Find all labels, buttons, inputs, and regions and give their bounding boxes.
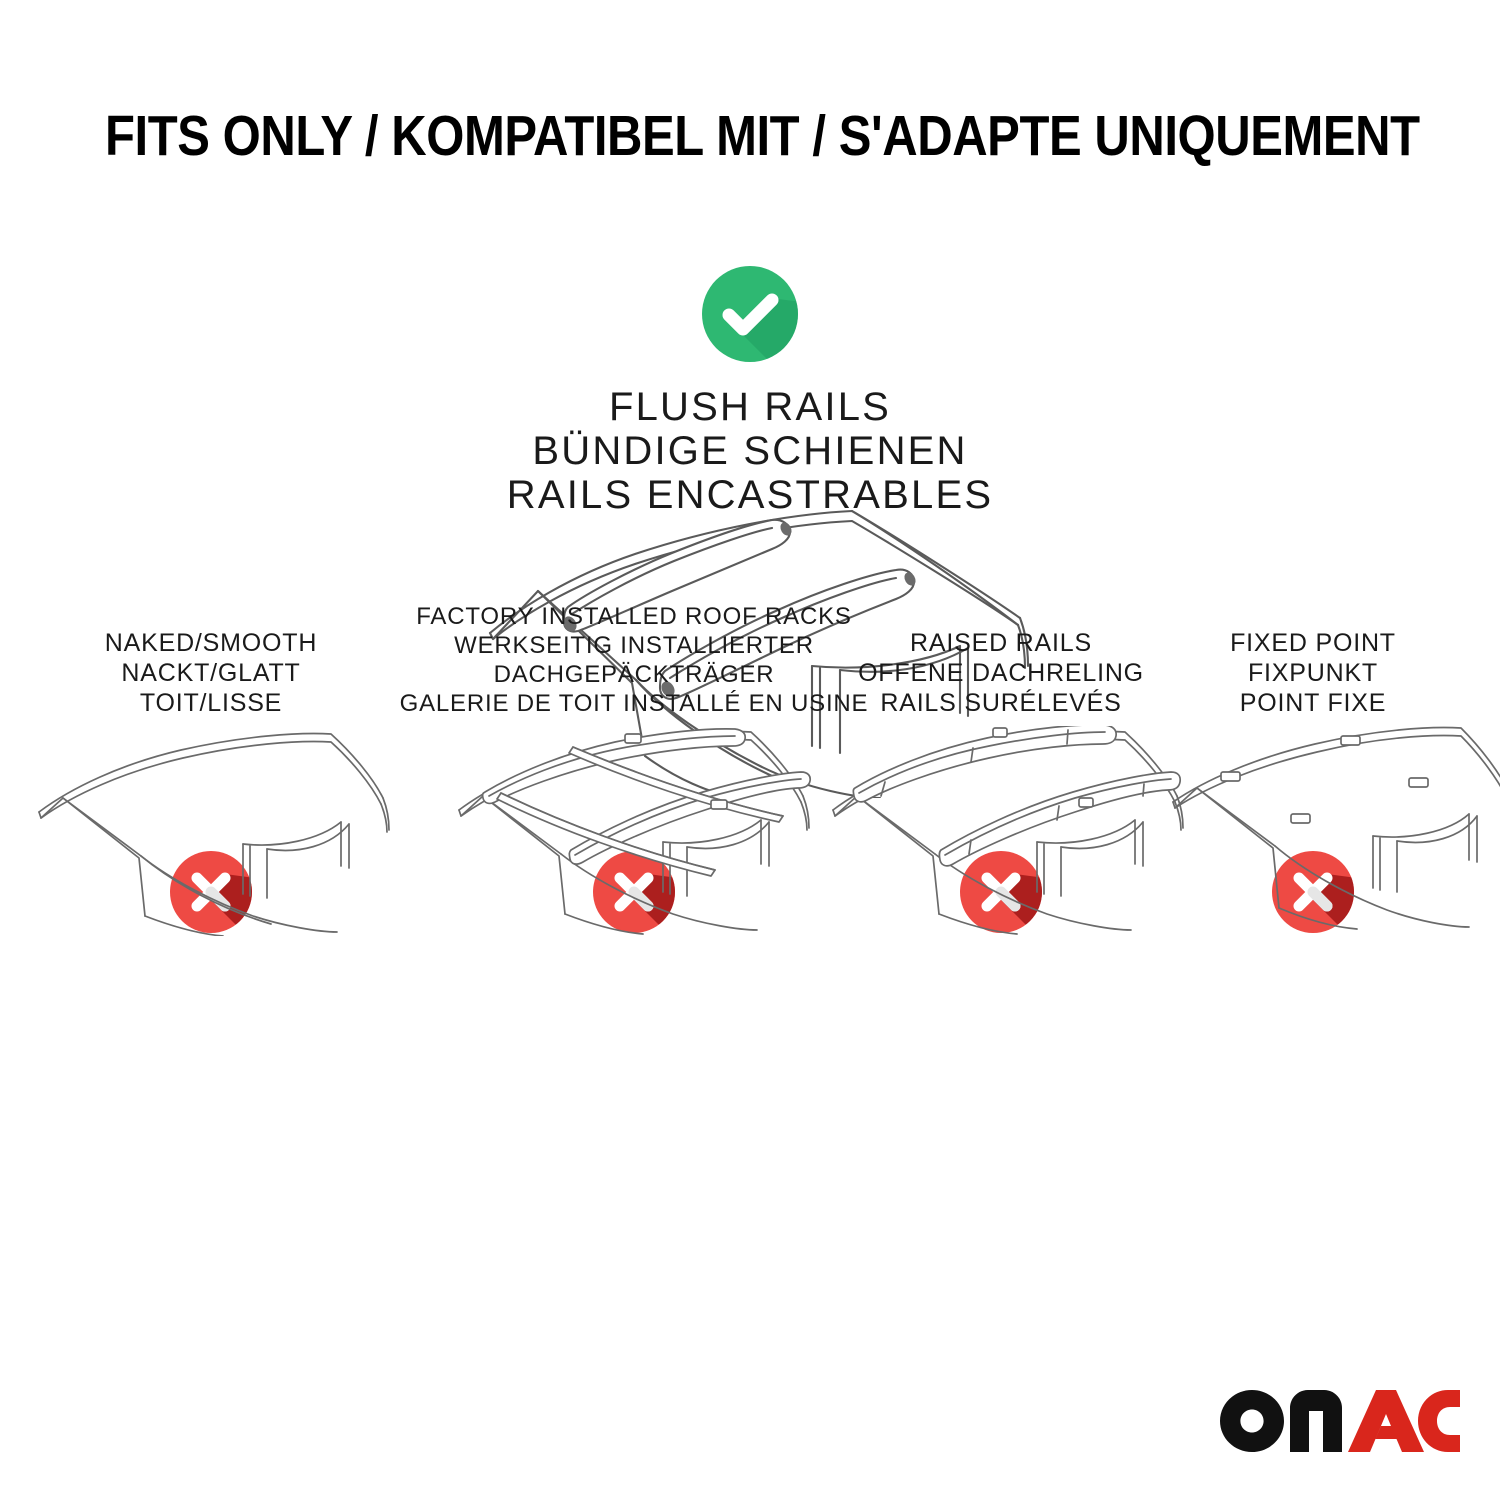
- label-line-2: WERKSEITIG INSTALLIERTER: [394, 631, 874, 660]
- label-line-3: DACHGEPÄCKTRÄGER: [394, 660, 874, 689]
- label-line-3: TOIT/LISSE: [21, 688, 401, 718]
- label-line-1: NAKED/SMOOTH: [21, 628, 401, 658]
- incompatible-label-naked-smooth: NAKED/SMOOTH NACKT/GLATT TOIT/LISSE: [21, 628, 401, 718]
- car-roof-raised-rails-illustration: [821, 726, 1181, 936]
- page-title: FITS ONLY / KOMPATIBEL MIT / S'ADAPTE UN…: [105, 104, 1395, 168]
- label-line-4: GALERIE DE TOIT INSTALLÉ EN USINE: [394, 689, 874, 718]
- label-line-1: FIXED POINT: [1163, 628, 1463, 658]
- incompatible-item-naked-smooth: NAKED/SMOOTH NACKT/GLATT TOIT/LISSE: [21, 848, 401, 936]
- compatible-heading-line-1: FLUSH RAILS: [0, 385, 1500, 429]
- incompatible-label-raised-rails: RAISED RAILS OFFENE DACHRELING RAILS SUR…: [821, 628, 1181, 718]
- incompatible-label-fixed-point: FIXED POINT FIXPUNKT POINT FIXE: [1163, 628, 1463, 718]
- infographic-page: FITS ONLY / KOMPATIBEL MIT / S'ADAPTE UN…: [0, 0, 1500, 1500]
- incompatible-label-factory-roof-racks: FACTORY INSTALLED ROOF RACKS WERKSEITIG …: [394, 602, 874, 718]
- green-check-icon: [698, 262, 802, 366]
- label-line-1: RAISED RAILS: [821, 628, 1181, 658]
- label-line-3: RAILS SURÉLEVÉS: [821, 688, 1181, 718]
- incompatible-item-raised-rails: RAISED RAILS OFFENE DACHRELING RAILS SUR…: [821, 848, 1181, 936]
- incompatible-item-fixed-point: FIXED POINT FIXPUNKT POINT FIXE: [1163, 848, 1463, 936]
- label-line-3: POINT FIXE: [1163, 688, 1463, 718]
- label-line-2: NACKT/GLATT: [21, 658, 401, 688]
- car-roof-factory-roof-racks-illustration: [394, 726, 874, 936]
- incompatible-section: NAKED/SMOOTH NACKT/GLATT TOIT/LISSE: [0, 848, 1500, 1268]
- car-roof-naked-smooth-illustration: [21, 726, 401, 936]
- compatible-heading-line-2: BÜNDIGE SCHIENEN: [0, 429, 1500, 473]
- label-line-2: OFFENE DACHRELING: [821, 658, 1181, 688]
- label-line-2: FIXPUNKT: [1163, 658, 1463, 688]
- omac-logo: [1220, 1390, 1460, 1452]
- compatible-section: FLUSH RAILS BÜNDIGE SCHIENEN RAILS ENCAS…: [0, 262, 1500, 517]
- incompatible-item-factory-roof-racks: FACTORY INSTALLED ROOF RACKS WERKSEITIG …: [394, 848, 874, 936]
- label-line-1: FACTORY INSTALLED ROOF RACKS: [394, 602, 874, 631]
- car-roof-fixed-point-illustration: [1163, 726, 1463, 936]
